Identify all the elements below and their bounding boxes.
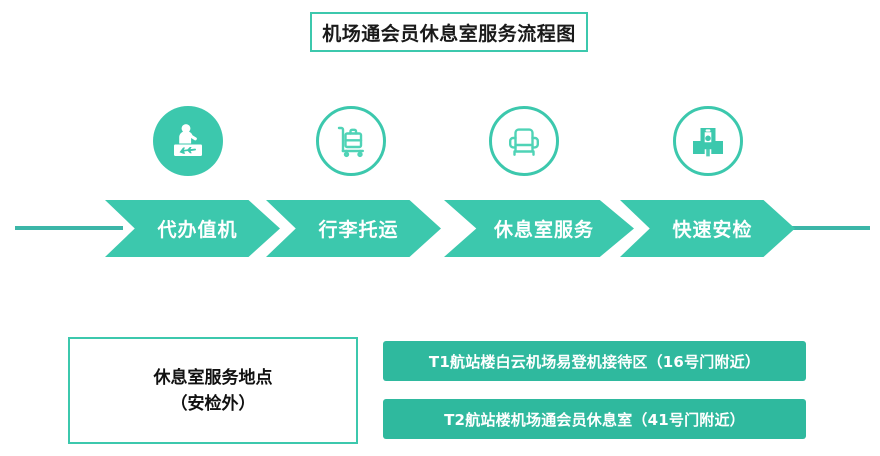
step-icon-lounge (489, 106, 559, 176)
flow-step-security[interactable]: 快速安检 (620, 200, 795, 257)
flow-step-label: 快速安检 (672, 215, 752, 242)
armchair-icon (502, 119, 546, 163)
flowchart-root: 机场通会员休息室服务流程图 (0, 0, 880, 456)
terminal-t2-box[interactable]: T2航站楼机场通会员休息室（41号门附近） (383, 399, 806, 439)
terminal-t1-text: T1航站楼白云机场易登机接待区（16号门附近） (429, 351, 760, 372)
terminal-t2-text: T2航站楼机场通会员休息室（41号门附近） (444, 409, 745, 430)
flow-step-label: 行李托运 (318, 215, 398, 242)
flow-step-luggage[interactable]: 行李托运 (266, 200, 441, 257)
check-in-counter-icon (166, 119, 210, 163)
step-icon-check-in (153, 106, 223, 176)
step-icon-luggage (316, 106, 386, 176)
flow-step-lounge[interactable]: 休息室服务 (444, 200, 634, 257)
flow-step-label: 代办值机 (157, 215, 237, 242)
terminal-t1-box[interactable]: T1航站楼白云机场易登机接待区（16号门附近） (383, 341, 806, 381)
page-title: 机场通会员休息室服务流程图 (322, 19, 576, 46)
page-title-box: 机场通会员休息室服务流程图 (310, 12, 588, 52)
security-gate-icon (686, 119, 730, 163)
luggage-cart-icon (329, 119, 373, 163)
lounge-location-title: 休息室服务地点 (154, 365, 273, 391)
flow-line-left (15, 226, 123, 230)
flow-step-check-in[interactable]: 代办值机 (105, 200, 280, 257)
step-icon-security (673, 106, 743, 176)
lounge-location-subtitle: （安检外） (171, 391, 256, 417)
lounge-location-box: 休息室服务地点 （安检外） (68, 337, 358, 444)
flow-step-label: 休息室服务 (494, 215, 594, 242)
